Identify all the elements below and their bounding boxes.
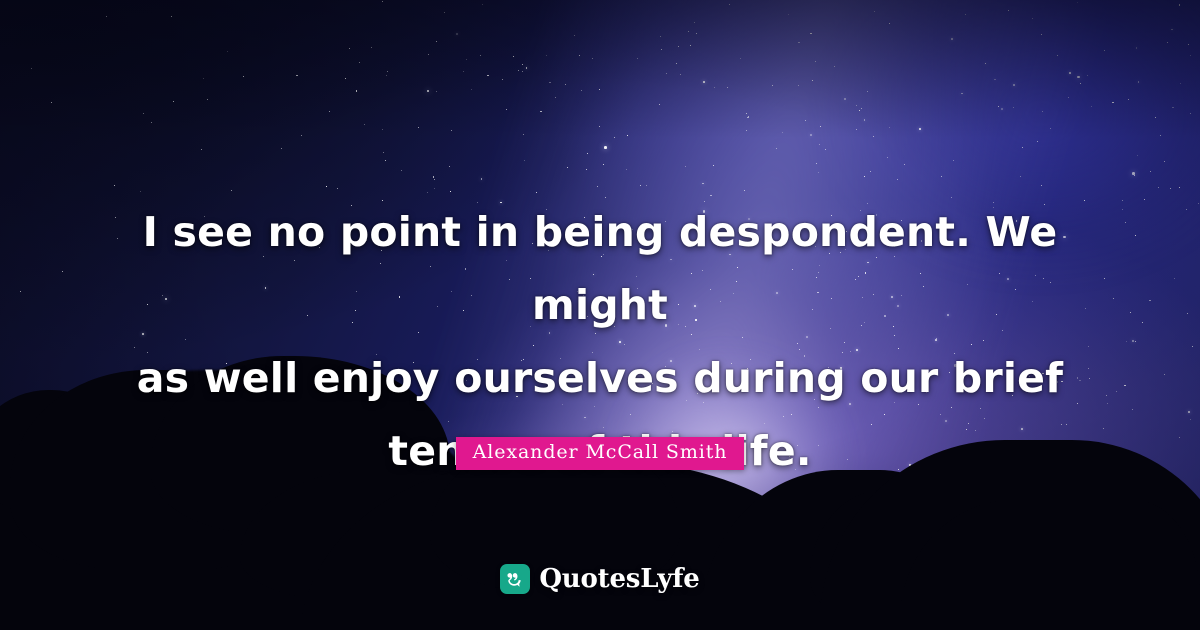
quote-smiley-icon (500, 564, 530, 594)
author-attribution: Alexander McCall Smith (0, 437, 1200, 470)
quote-line-2: as well enjoy ourselves during our brief (90, 342, 1110, 415)
quote-card: I see no point in being despondent. We m… (0, 0, 1200, 630)
author-name-badge: Alexander McCall Smith (456, 437, 745, 470)
brand-logo[interactable]: QuotesLyfe (0, 564, 1200, 594)
quote-line-1: I see no point in being despondent. We m… (90, 196, 1110, 342)
brand-name-text: QuotesLyfe (539, 566, 699, 592)
